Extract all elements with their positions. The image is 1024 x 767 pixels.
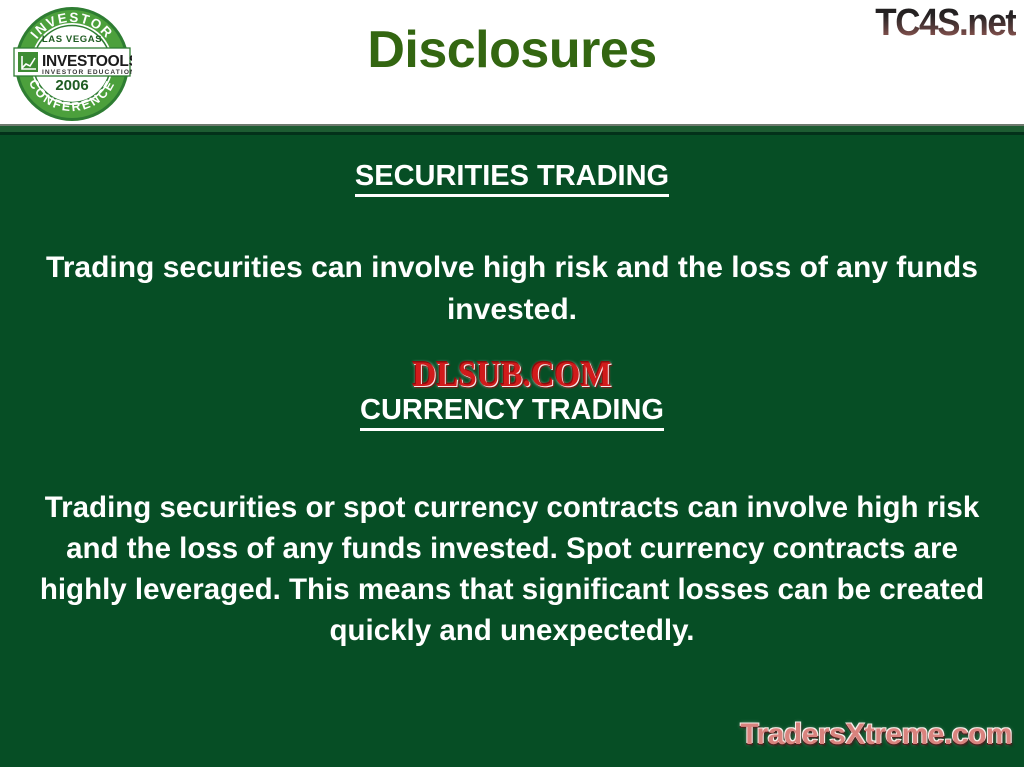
slide-body: SECURITIES TRADING Trading securities ca… [0,135,1024,767]
tc4s-brand-logo: TC4S.net [876,0,1016,46]
section-body-currency-trading: Trading securities or spot currency cont… [28,487,996,651]
page-title: Disclosures [180,19,844,81]
watermark-dlsub: DLSUB.COM [0,356,1024,395]
svg-text:INVESTOR EDUCATION: INVESTOR EDUCATION [42,69,132,76]
section-heading-currency-trading-text: CURRENCY TRADING [360,394,664,431]
slide-header: INVESTOR CONFERENCE LAS VEGAS INVESTOOLS… [0,0,1024,124]
investools-conference-badge-icon: INVESTOR CONFERENCE LAS VEGAS INVESTOOLS… [12,4,132,124]
slide-canvas: INVESTOR CONFERENCE LAS VEGAS INVESTOOLS… [0,0,1024,767]
svg-text:2006: 2006 [55,77,88,94]
svg-text:INVESTOOLS®: INVESTOOLS® [42,53,132,70]
section-heading-securities-trading: SECURITIES TRADING [0,159,1024,193]
section-body-securities-trading: Trading securities can involve high risk… [28,247,996,331]
section-heading-securities-trading-text: SECURITIES TRADING [355,160,669,197]
tradersxtreme-watermark: TradersXtreme.com [740,717,1012,753]
svg-text:LAS VEGAS: LAS VEGAS [42,34,102,45]
section-heading-currency-trading: CURRENCY TRADING [0,393,1024,427]
